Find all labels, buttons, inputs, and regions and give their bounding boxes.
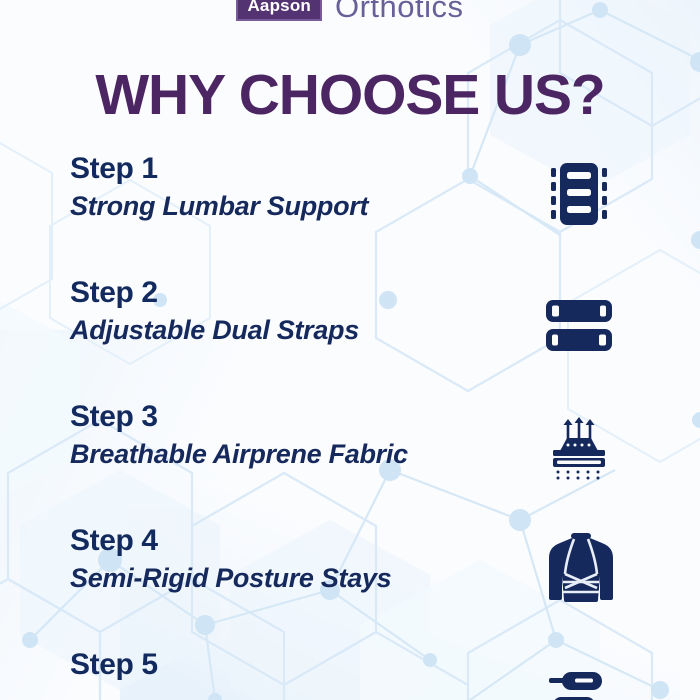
adjustable-strap-pull-icon <box>542 656 614 700</box>
lumbar-support-belt-icon <box>543 158 615 230</box>
list-item: Step 4 Semi-Rigid Posture Stays <box>0 524 700 648</box>
poster-content: Aapson Orthotics WHY CHOOSE US? Step 1 S… <box>0 0 700 700</box>
list-item: Step 5 <box>0 648 700 700</box>
dual-straps-icon <box>543 290 615 362</box>
breathable-fabric-airflow-icon <box>543 414 615 486</box>
list-item: Step 2 Adjustable Dual Straps <box>0 276 700 400</box>
list-item: Step 1 Strong Lumbar Support <box>0 152 700 276</box>
page-title: WHY CHOOSE US? <box>0 66 700 126</box>
brand-word: Orthotics <box>335 0 464 22</box>
brand-badge: Aapson <box>236 0 322 21</box>
brand-logo[interactable]: Aapson Orthotics <box>0 0 700 22</box>
brand-badge-text: Aapson <box>247 0 311 15</box>
steps-list: Step 1 Strong Lumbar Support <box>0 152 700 700</box>
list-item: Step 3 Breathable Airprene Fabric <box>0 400 700 524</box>
posture-brace-torso-icon <box>545 530 617 602</box>
